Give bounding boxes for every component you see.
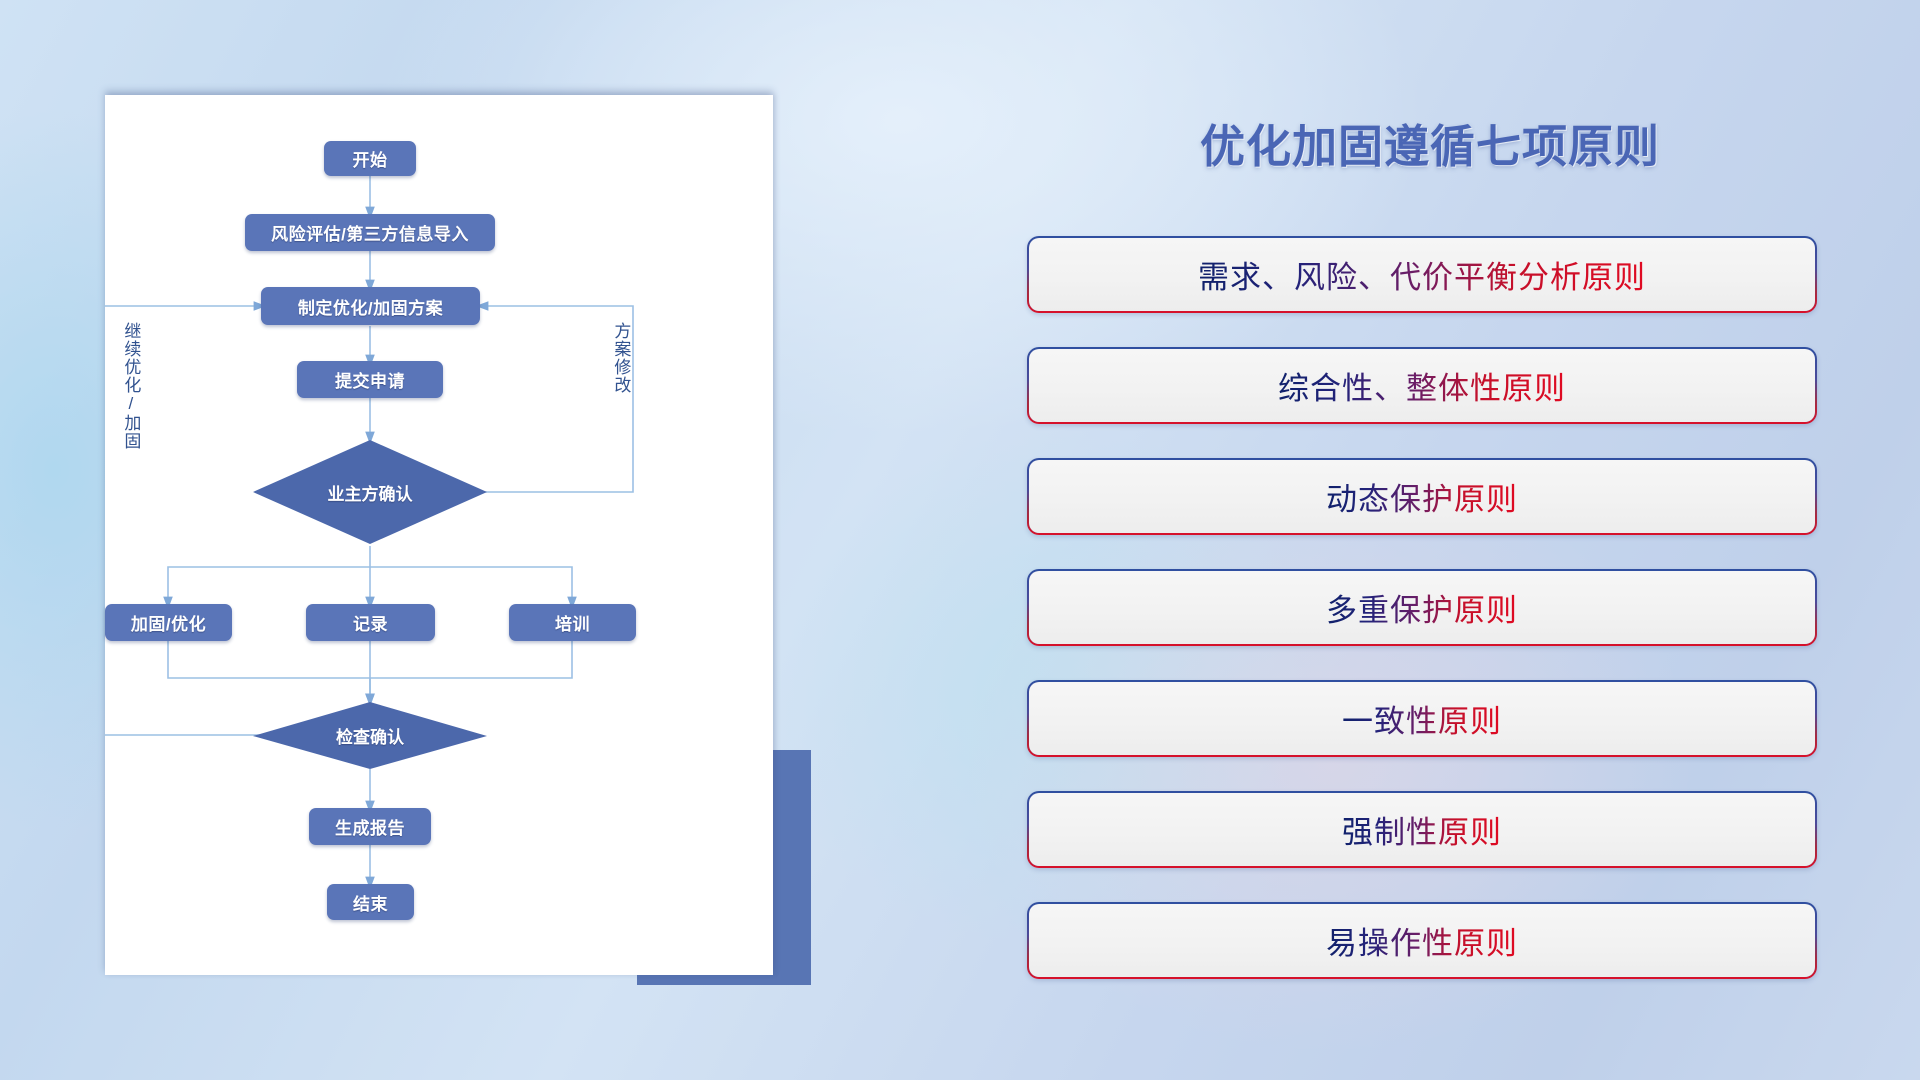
flow-node-owner-confirm-label: 业主方确认 xyxy=(328,480,413,505)
principle-label: 需求、风险、代价平衡分析原则 xyxy=(1198,252,1646,297)
principle-item[interactable]: 强制性原则 xyxy=(1027,791,1817,868)
principle-item[interactable]: 一致性原则 xyxy=(1027,680,1817,757)
flow-edge-label-right-loop: 方案修改 xyxy=(612,322,629,394)
flow-node-reinforce-label: 加固/优化 xyxy=(131,610,206,635)
flow-node-record[interactable]: 记录 xyxy=(306,604,435,641)
flow-node-training-label: 培训 xyxy=(555,610,590,635)
flow-node-inspection-label: 检查确认 xyxy=(336,723,404,748)
flow-edge-label-right-loop-text: 方案修改 xyxy=(611,322,630,394)
flowchart-card: 开始 风险评估/第三方信息导入 制定优化/加固方案 提交申请 业主方确认 加固/… xyxy=(105,95,773,975)
principle-list: 需求、风险、代价平衡分析原则 综合性、整体性原则 动态保护原则 多重保护原则 一… xyxy=(1027,236,1817,1013)
principle-label: 易操作性原则 xyxy=(1326,918,1518,963)
flow-node-reinforce[interactable]: 加固/优化 xyxy=(105,604,232,641)
principle-label: 强制性原则 xyxy=(1342,807,1502,852)
flow-node-inspection[interactable]: 检查确认 xyxy=(303,719,437,752)
flow-node-plan[interactable]: 制定优化/加固方案 xyxy=(261,287,480,325)
principle-label: 综合性、整体性原则 xyxy=(1278,363,1566,408)
flow-node-submit[interactable]: 提交申请 xyxy=(297,361,443,398)
principle-label: 多重保护原则 xyxy=(1326,585,1518,630)
flow-node-end[interactable]: 结束 xyxy=(327,884,414,920)
flow-node-owner-confirm[interactable]: 业主方确认 xyxy=(290,475,450,509)
principle-item[interactable]: 多重保护原则 xyxy=(1027,569,1817,646)
slide-canvas: 开始 风险评估/第三方信息导入 制定优化/加固方案 提交申请 业主方确认 加固/… xyxy=(0,0,1920,1080)
flow-node-report-label: 生成报告 xyxy=(335,814,405,839)
flow-edge-label-left-loop: 继续优化/加固 xyxy=(122,322,139,450)
flow-node-report[interactable]: 生成报告 xyxy=(309,808,431,845)
principle-label: 一致性原则 xyxy=(1342,696,1502,741)
flow-node-plan-label: 制定优化/加固方案 xyxy=(298,294,443,319)
flow-node-risk-assessment[interactable]: 风险评估/第三方信息导入 xyxy=(245,214,495,251)
principle-item[interactable]: 易操作性原则 xyxy=(1027,902,1817,979)
flow-edge-label-left-loop-text: 继续优化/加固 xyxy=(121,322,140,450)
flow-node-start[interactable]: 开始 xyxy=(324,141,416,176)
principle-item[interactable]: 动态保护原则 xyxy=(1027,458,1817,535)
principle-label: 动态保护原则 xyxy=(1326,474,1518,519)
flow-node-submit-label: 提交申请 xyxy=(335,367,405,392)
flow-node-risk-assessment-label: 风险评估/第三方信息导入 xyxy=(271,220,469,245)
page-title: 优化加固遵循七项原则 xyxy=(1160,110,1700,175)
principle-item[interactable]: 需求、风险、代价平衡分析原则 xyxy=(1027,236,1817,313)
flow-node-record-label: 记录 xyxy=(353,610,388,635)
flow-node-training[interactable]: 培训 xyxy=(509,604,636,641)
principle-item[interactable]: 综合性、整体性原则 xyxy=(1027,347,1817,424)
flow-node-start-label: 开始 xyxy=(353,146,388,171)
flow-node-end-label: 结束 xyxy=(353,890,388,915)
